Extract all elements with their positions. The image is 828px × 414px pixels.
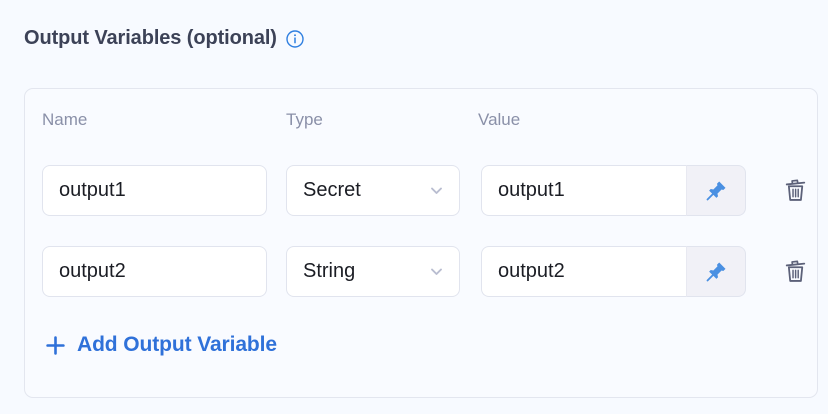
variable-name-input[interactable]: output2 [42, 246, 267, 297]
add-output-variable-label: Add Output Variable [77, 333, 277, 357]
variable-name-input[interactable]: output1 [42, 165, 267, 216]
variable-type-value: String [303, 260, 355, 283]
pushpin-icon [705, 260, 728, 283]
variable-type-value: Secret [303, 179, 361, 202]
variable-value-input[interactable]: output1 [481, 165, 686, 216]
info-circle-icon[interactable] [286, 30, 304, 48]
trash-icon [782, 258, 809, 285]
delete-row-button[interactable] [773, 169, 817, 213]
trash-icon [782, 177, 809, 204]
table-row: output2 String output2 [42, 246, 817, 297]
add-output-variable-button[interactable]: Add Output Variable [41, 329, 281, 361]
column-header-name: Name [42, 110, 87, 130]
variable-value-group: output1 [481, 165, 746, 216]
chevron-down-icon [428, 263, 445, 280]
chevron-down-icon [428, 182, 445, 199]
column-header-type: Type [286, 110, 323, 130]
pushpin-icon-button[interactable] [686, 246, 746, 297]
pushpin-icon [705, 179, 728, 202]
variable-type-select[interactable]: Secret [286, 165, 460, 216]
page-title: Output Variables (optional) [24, 27, 277, 50]
delete-row-button[interactable] [773, 250, 817, 294]
table-row: output1 Secret output1 [42, 165, 817, 216]
column-header-value: Value [478, 110, 520, 130]
variable-type-select[interactable]: String [286, 246, 460, 297]
table-header-row: Name Type Value [25, 89, 817, 145]
variable-value-input[interactable]: output2 [481, 246, 686, 297]
pushpin-icon-button[interactable] [686, 165, 746, 216]
variable-value-group: output2 [481, 246, 746, 297]
section-header: Output Variables (optional) [24, 27, 304, 50]
plus-icon [45, 335, 66, 356]
output-variables-panel: Name Type Value output1 Secret output1 [24, 88, 818, 398]
